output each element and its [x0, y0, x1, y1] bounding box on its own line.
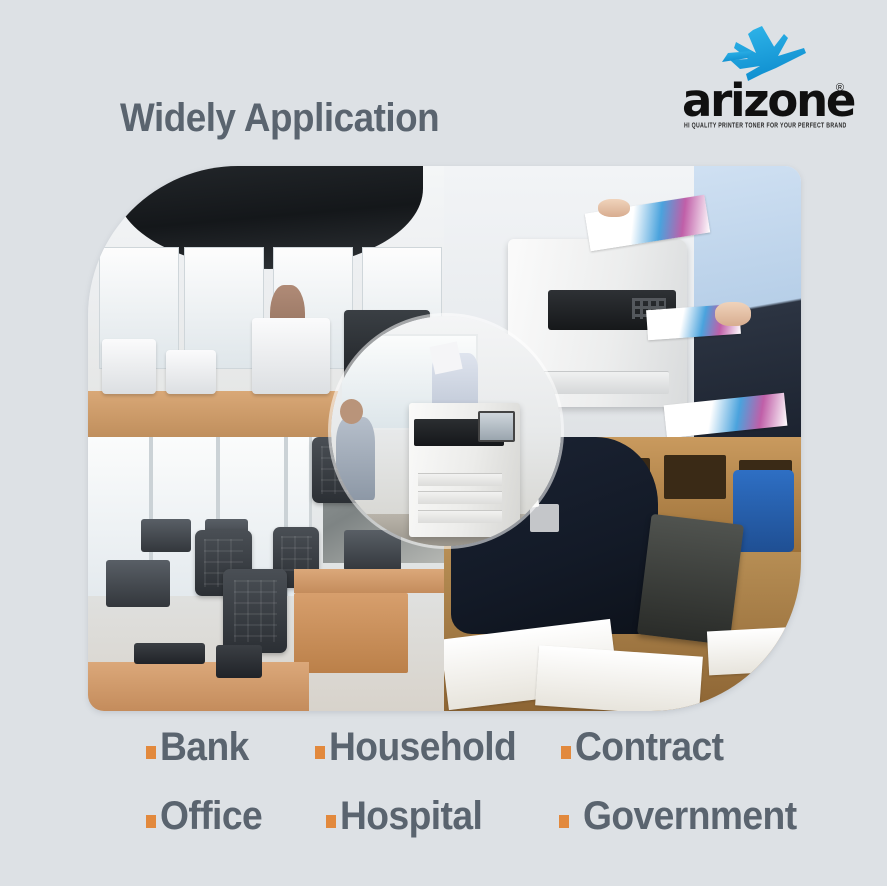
label-text: Hospital — [340, 794, 482, 839]
label-text: Bank — [160, 725, 249, 770]
computer-monitor — [141, 519, 191, 552]
bullet-square-icon — [315, 746, 325, 759]
tablet-device — [637, 514, 744, 645]
office-copier — [409, 403, 519, 536]
label-text: Government — [583, 794, 797, 839]
application-photo-collage — [88, 166, 801, 711]
hand — [598, 199, 630, 218]
storage-cabinet — [294, 593, 408, 672]
label-text: Contract — [575, 725, 723, 770]
copier-paper-drawer — [418, 491, 502, 504]
label-text: Office — [160, 794, 262, 839]
registered-trademark-icon: ® — [836, 82, 844, 94]
label-row: Bank Household Contract — [0, 725, 887, 770]
label-row: Office Hospital Government — [0, 794, 887, 839]
label-text: Household — [329, 725, 516, 770]
computer-monitor — [106, 560, 170, 607]
bullet-square-icon — [326, 815, 336, 828]
blue-classroom-chair — [733, 470, 794, 552]
copier-paper-drawer — [418, 510, 502, 523]
desk-surface — [294, 569, 444, 594]
label-item-office: Office — [146, 794, 270, 839]
bullet-square-icon — [561, 746, 571, 759]
bullet-square-icon — [559, 815, 569, 828]
copier-touchscreen — [478, 411, 515, 442]
brand-wordmark: arizone — [682, 78, 842, 123]
brand-logo: arizone ® HI QUALITY PRINTER TONER FOR Y… — [682, 22, 842, 134]
label-item-hospital: Hospital — [326, 794, 493, 839]
keyboard — [134, 643, 205, 665]
printed-paper — [707, 626, 801, 675]
photo-large-copier-circle — [331, 316, 561, 546]
desk-surface — [88, 662, 309, 711]
standing-person — [336, 417, 375, 500]
brand-tagline: HI QUALITY PRINTER TONER FOR YOUR PERFEC… — [684, 122, 842, 130]
bullet-square-icon — [146, 746, 156, 759]
copier-paper-drawer — [418, 473, 502, 486]
bullet-square-icon — [146, 815, 156, 828]
shelf-compartment — [664, 455, 726, 499]
label-item-household: Household — [315, 725, 530, 770]
printed-paper — [535, 645, 703, 711]
office-chair — [223, 569, 287, 654]
page-title: Widely Application — [120, 96, 439, 141]
laptop-screen — [166, 350, 216, 393]
label-item-contract: Contract — [561, 725, 735, 770]
application-label-list: Bank Household Contract Office Hospital … — [0, 725, 887, 839]
label-item-government: Government — [559, 794, 813, 839]
desk-phone — [216, 645, 262, 678]
computer-monitor — [102, 339, 155, 393]
held-document — [430, 341, 463, 374]
hand — [715, 302, 751, 326]
label-item-bank: Bank — [146, 725, 255, 770]
imac-display — [252, 318, 330, 394]
